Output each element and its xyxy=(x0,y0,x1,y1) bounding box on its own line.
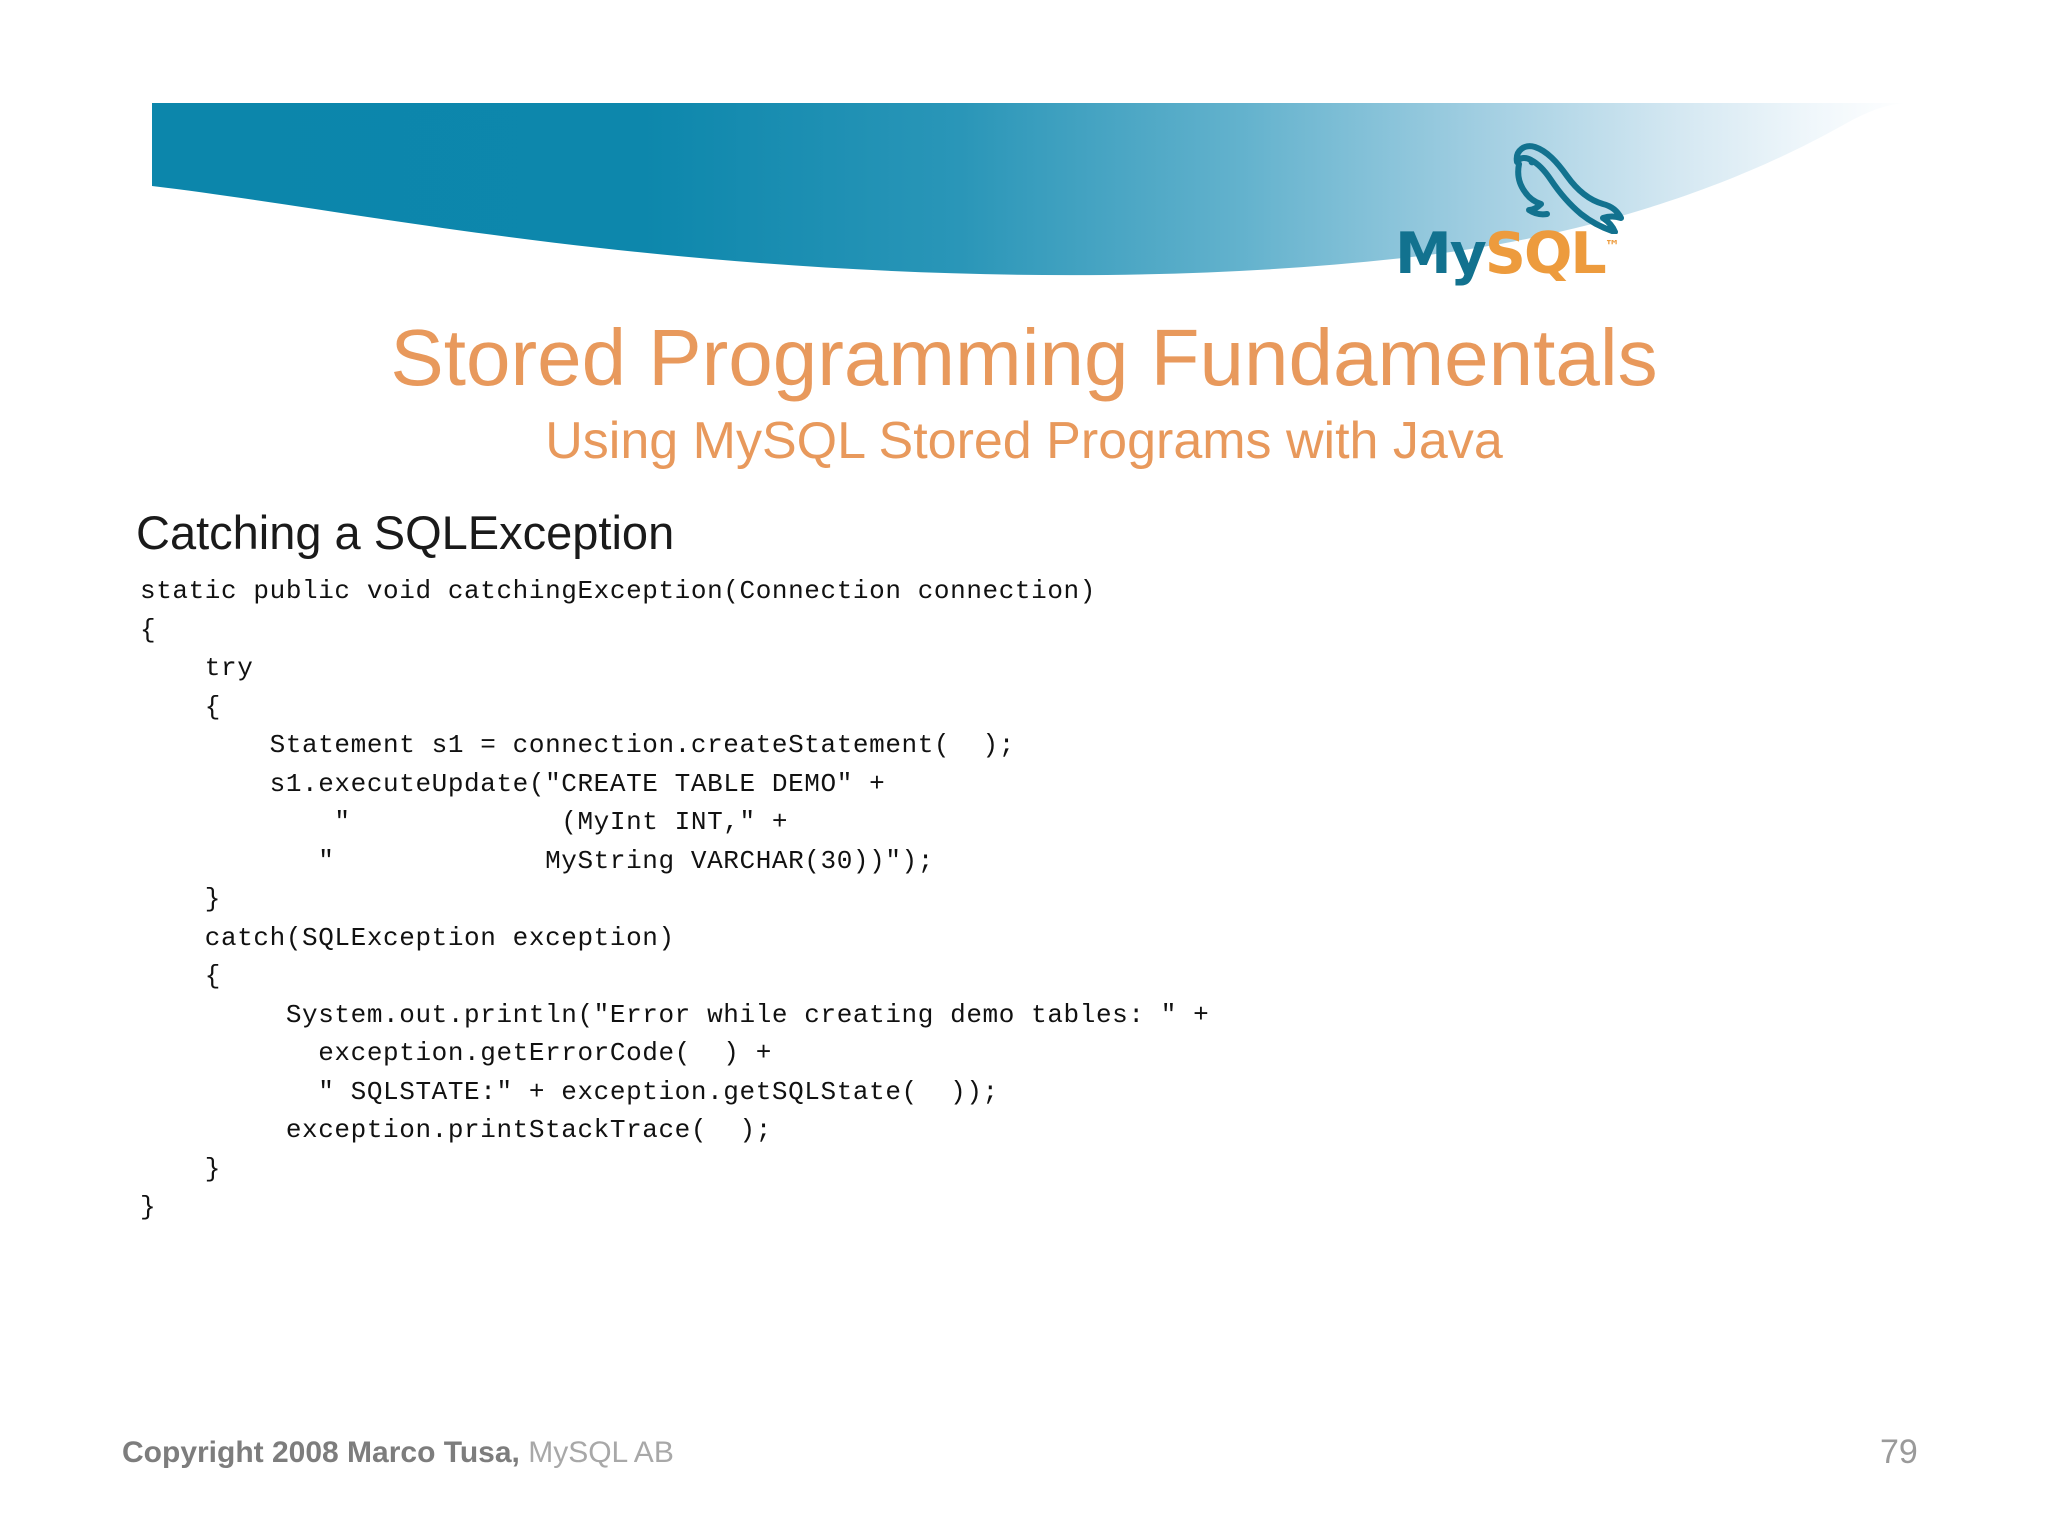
code-line: } xyxy=(140,1188,1940,1227)
page-subtitle: Using MySQL Stored Programs with Java xyxy=(0,410,2048,472)
code-line: { xyxy=(140,957,1940,996)
code-line: static public void catchingException(Con… xyxy=(140,572,1940,611)
code-line: exception.getErrorCode( ) + xyxy=(140,1034,1940,1073)
slide-canvas: MySQL™ Stored Programming Fundamentals U… xyxy=(0,0,2048,1536)
page-title: Stored Programming Fundamentals xyxy=(0,310,2048,406)
code-line: " SQLSTATE:" + exception.getSQLState( ))… xyxy=(140,1073,1940,1112)
code-line: exception.printStackTrace( ); xyxy=(140,1111,1940,1150)
code-line: System.out.println("Error while creating… xyxy=(140,996,1940,1035)
mysql-logo: MySQL™ xyxy=(1395,140,1655,270)
code-listing: static public void catchingException(Con… xyxy=(140,572,1940,1227)
code-line: } xyxy=(140,880,1940,919)
logo-trademark: ™ xyxy=(1605,237,1620,255)
title-block: Stored Programming Fundamentals Using My… xyxy=(0,310,2048,472)
code-line: { xyxy=(140,611,1940,650)
code-line: " (MyInt INT," + xyxy=(140,803,1940,842)
code-line: s1.executeUpdate("CREATE TABLE DEMO" + xyxy=(140,765,1940,804)
mysql-wordmark: MySQL™ xyxy=(1395,218,1655,274)
copyright-company: MySQL AB xyxy=(520,1436,674,1469)
copyright-owner: Copyright 2008 Marco Tusa, xyxy=(122,1436,520,1469)
code-line: try xyxy=(140,649,1940,688)
code-line: { xyxy=(140,688,1940,727)
code-line: Statement s1 = connection.createStatemen… xyxy=(140,726,1940,765)
logo-text-sql: SQL xyxy=(1485,221,1605,287)
code-line: " MyString VARCHAR(30))"); xyxy=(140,842,1940,881)
code-line: catch(SQLException exception) xyxy=(140,919,1940,958)
code-line: } xyxy=(140,1150,1940,1189)
page-number: 79 xyxy=(1880,1432,1960,1472)
header-banner xyxy=(0,0,2048,300)
logo-text-my: My xyxy=(1395,221,1485,287)
footer-copyright: Copyright 2008 Marco Tusa, MySQL AB xyxy=(122,1434,674,1472)
section-heading: Catching a SQLException xyxy=(136,505,674,561)
